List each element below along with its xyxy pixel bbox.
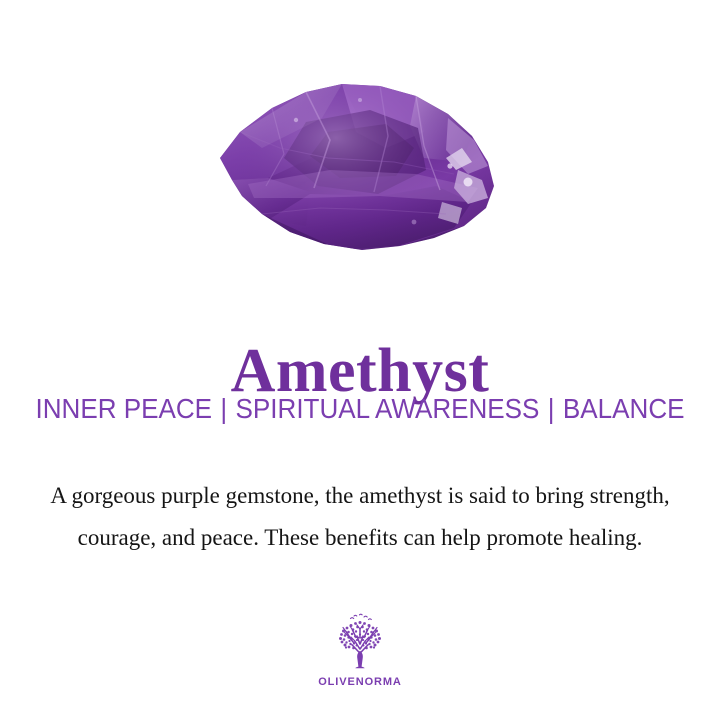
amethyst-crystal-photo xyxy=(210,62,510,262)
keyword-balance: BALANCE xyxy=(563,393,685,424)
crystal-body xyxy=(210,62,510,262)
product-description: A gorgeous purple gemstone, the amethyst… xyxy=(50,475,670,559)
olivenorma-tree-logo-icon xyxy=(330,612,390,674)
keyword-list: INNER PEACE|SPIRITUAL AWARENESS|BALANCE xyxy=(25,392,695,426)
product-info-card: Amethyst INNER PEACE|SPIRITUAL AWARENESS… xyxy=(0,0,720,720)
keyword-separator: | xyxy=(539,392,563,426)
keyword-separator: | xyxy=(212,392,236,426)
keyword-spiritual-awareness: SPIRITUAL AWARENESS xyxy=(236,393,540,424)
keyword-inner-peace: INNER PEACE xyxy=(35,393,212,424)
amethyst-image-container xyxy=(0,62,720,274)
brand-name: OLIVENORMA xyxy=(0,676,720,688)
brand-logo: OLIVENORMA xyxy=(0,612,720,688)
